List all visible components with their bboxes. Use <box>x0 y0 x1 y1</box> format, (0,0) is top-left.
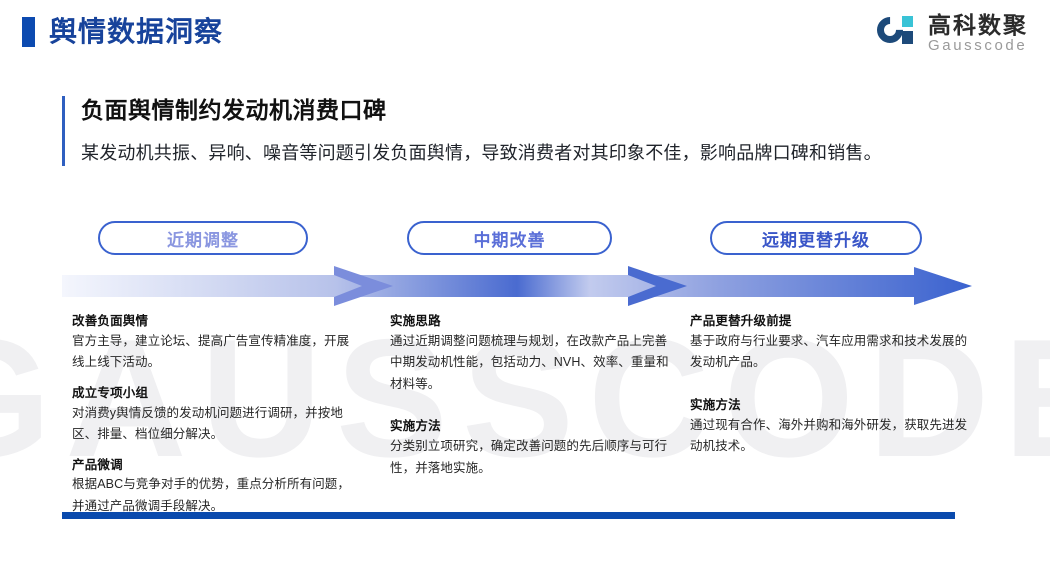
detail-block-title: 改善负面舆情 <box>72 312 352 331</box>
header-title-group: 舆情数据洞察 <box>22 17 223 47</box>
stage-pill-long-term[interactable]: 远期更替升级 <box>710 221 922 255</box>
stage-pill-mid-term[interactable]: 中期改善 <box>407 221 612 255</box>
timeline-arrow <box>62 265 972 307</box>
brand-name-zh: 高科数聚 <box>928 13 1028 37</box>
detail-block-body: 根据ABC与竞争对手的优势，重点分析所有问题，并通过产品微调手段解决。 <box>72 474 352 517</box>
detail-block-body: 分类别立项研究，确定改善问题的先后顺序与可行性，并落地实施。 <box>390 436 670 479</box>
detail-block-body: 对消费y舆情反馈的发动机问题进行调研，并按地区、排量、档位细分解决。 <box>72 403 352 446</box>
detail-block-title: 产品更替升级前提 <box>690 312 970 331</box>
detail-block-title: 实施方法 <box>390 417 670 436</box>
footer-accent-bar <box>62 512 955 519</box>
detail-block-body: 通过现有合作、海外并购和海外研发，获取先进发动机技术。 <box>690 415 970 458</box>
brand-text: 高科数聚 Gausscode <box>928 13 1028 55</box>
detail-block: 成立专项小组 对消费y舆情反馈的发动机问题进行调研，并按地区、排量、档位细分解决… <box>72 384 352 446</box>
detail-block-title: 成立专项小组 <box>72 384 352 403</box>
timeline-arrow-graphic <box>62 265 972 307</box>
detail-block: 实施思路 通过近期调整问题梳理与规划，在改款产品上完善中期发动机性能，包括动力、… <box>390 312 670 395</box>
detail-block-title: 实施方法 <box>690 396 970 415</box>
hero-title: 负面舆情制约发动机消费口碑 <box>81 96 962 126</box>
logo-square-dark-icon <box>902 31 913 44</box>
hero-section: 负面舆情制约发动机消费口碑 某发动机共振、异响、噪音等问题引发负面舆情，导致消费… <box>62 96 962 166</box>
gausscode-logo-icon <box>875 12 919 56</box>
detail-block-body: 官方主导，建立论坛、提高广告宣传精准度，开展线上线下活动。 <box>72 331 352 374</box>
detail-block: 产品微调 根据ABC与竞争对手的优势，重点分析所有问题，并通过产品微调手段解决。 <box>72 456 352 518</box>
detail-block-title: 实施思路 <box>390 312 670 331</box>
column-mid-term: 实施思路 通过近期调整问题梳理与规划，在改款产品上完善中期发动机性能，包括动力、… <box>390 312 670 489</box>
detail-block: 产品更替升级前提 基于政府与行业要求、汽车应用需求和技术发展的发动机产品。 <box>690 312 970 374</box>
detail-block: 改善负面舆情 官方主导，建立论坛、提高广告宣传精准度，开展线上线下活动。 <box>72 312 352 374</box>
stage-pill-near-term[interactable]: 近期调整 <box>98 221 308 255</box>
hero-subtitle: 某发动机共振、异响、噪音等问题引发负面舆情，导致消费者对其印象不佳，影响品牌口碑… <box>81 140 962 166</box>
detail-block-body: 基于政府与行业要求、汽车应用需求和技术发展的发动机产品。 <box>690 331 970 374</box>
detail-block: 实施方法 分类别立项研究，确定改善问题的先后顺序与可行性，并落地实施。 <box>390 417 670 479</box>
header-marker-icon <box>22 17 35 47</box>
page-title: 舆情数据洞察 <box>49 18 223 46</box>
page-header: 舆情数据洞察 高科数聚 Gausscode <box>0 0 1050 72</box>
column-long-term: 产品更替升级前提 基于政府与行业要求、汽车应用需求和技术发展的发动机产品。 实施… <box>690 312 970 468</box>
detail-block: 实施方法 通过现有合作、海外并购和海外研发，获取先进发动机技术。 <box>690 396 970 458</box>
detail-block-title: 产品微调 <box>72 456 352 475</box>
brand-logo: 高科数聚 Gausscode <box>875 12 1028 56</box>
logo-square-accent-icon <box>902 16 913 27</box>
brand-name-en: Gausscode <box>928 38 1028 55</box>
stage-pill-group: 近期调整 中期改善 远期更替升级 <box>62 221 962 255</box>
column-near-term: 改善负面舆情 官方主导，建立论坛、提高广告宣传精准度，开展线上线下活动。 成立专… <box>72 312 352 527</box>
detail-block-body: 通过近期调整问题梳理与规划，在改款产品上完善中期发动机性能，包括动力、NVH、效… <box>390 331 670 396</box>
